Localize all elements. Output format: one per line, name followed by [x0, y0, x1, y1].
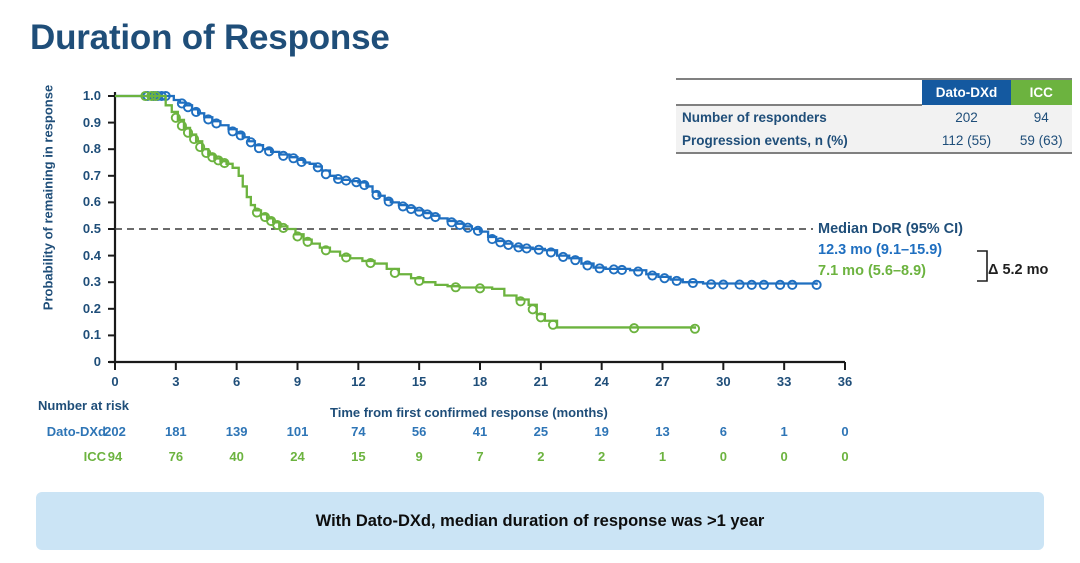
risk-value: 94	[95, 449, 135, 464]
risk-value: 181	[156, 424, 196, 439]
x-tick-label: 3	[156, 374, 196, 389]
delta-value: Δ 5.2 mo	[988, 262, 1048, 278]
number-at-risk-table: Number at risk Dato-DXd20218113910174564…	[0, 398, 880, 478]
y-tick-label: 0.6	[67, 194, 101, 209]
y-tick-label: 0.4	[67, 248, 101, 263]
km-plot-svg	[0, 70, 880, 390]
x-tick-label: 9	[278, 374, 318, 389]
risk-value: 24	[278, 449, 318, 464]
risk-value: 0	[825, 424, 865, 439]
censor-marker	[464, 224, 472, 232]
median-dato-value: 12.3 mo (9.1–15.9)	[818, 240, 963, 261]
risk-value: 2	[521, 449, 561, 464]
y-tick-label: 0.7	[67, 168, 101, 183]
censor-marker	[673, 277, 681, 285]
median-icc-value: 7.1 mo (5.6–8.9)	[818, 261, 963, 282]
censor-marker	[648, 271, 656, 279]
y-tick-label: 0.9	[67, 115, 101, 130]
x-tick-label: 30	[703, 374, 743, 389]
risk-value: 0	[825, 449, 865, 464]
risk-value: 76	[156, 449, 196, 464]
y-tick-label: 0.1	[67, 327, 101, 342]
risk-value: 139	[217, 424, 257, 439]
censor-marker	[559, 253, 567, 261]
slide-root: Duration of Response Dato-DXd ICC Number…	[0, 0, 1080, 563]
censor-marker	[448, 218, 456, 226]
summary-table-col-icc: ICC	[1011, 79, 1072, 105]
risk-value: 40	[217, 449, 257, 464]
censor-marker	[456, 221, 464, 229]
censor-marker	[423, 210, 431, 218]
risk-value: 13	[643, 424, 683, 439]
risk-value: 0	[764, 449, 804, 464]
y-tick-label: 0.2	[67, 301, 101, 316]
x-tick-label: 21	[521, 374, 561, 389]
progression-dato-value: 112 (55)	[922, 129, 1010, 153]
takeaway-banner: With Dato-DXd, median duration of respon…	[36, 492, 1044, 550]
y-tick-label: 0.8	[67, 141, 101, 156]
km-chart: Probability of remaining in response 00.…	[0, 70, 880, 390]
risk-row-label-dato-dxd: Dato-DXd	[16, 424, 106, 439]
risk-value: 74	[338, 424, 378, 439]
page-title: Duration of Response	[30, 18, 390, 58]
risk-row-label-icc: ICC	[16, 449, 106, 464]
risk-value: 7	[460, 449, 500, 464]
censor-marker	[760, 281, 768, 289]
x-tick-label: 18	[460, 374, 500, 389]
x-tick-label: 0	[95, 374, 135, 389]
y-tick-label: 1.0	[67, 88, 101, 103]
censor-marker	[431, 213, 439, 221]
risk-value: 202	[95, 424, 135, 439]
median-dor-header: Median DoR (95% CI)	[818, 219, 963, 240]
risk-value: 1	[764, 424, 804, 439]
risk-value: 1	[643, 449, 683, 464]
x-tick-label: 36	[825, 374, 865, 389]
censor-marker	[504, 241, 512, 249]
x-tick-label: 24	[582, 374, 622, 389]
censor-marker	[748, 281, 756, 289]
censor-marker	[788, 281, 796, 289]
censor-marker	[660, 274, 668, 282]
progression-icc-value: 59 (63)	[1011, 129, 1072, 153]
risk-value: 56	[399, 424, 439, 439]
risk-value: 9	[399, 449, 439, 464]
y-tick-label: 0	[67, 354, 101, 369]
censor-marker	[407, 205, 415, 213]
risk-value: 25	[521, 424, 561, 439]
risk-value: 6	[703, 424, 743, 439]
x-tick-label: 15	[399, 374, 439, 389]
censor-marker	[279, 152, 287, 160]
risk-value: 2	[582, 449, 622, 464]
censor-marker	[634, 267, 642, 275]
x-tick-label: 33	[764, 374, 804, 389]
summary-table-col-dato: Dato-DXd	[922, 79, 1010, 105]
risk-value: 15	[338, 449, 378, 464]
censor-marker	[529, 305, 537, 313]
censor-marker	[415, 208, 423, 216]
risk-value: 19	[582, 424, 622, 439]
x-tick-label: 12	[338, 374, 378, 389]
censor-marker	[399, 202, 407, 210]
responders-dato-value: 202	[922, 105, 1010, 129]
number-at-risk-title: Number at risk	[38, 398, 129, 413]
censor-marker	[496, 238, 504, 246]
y-tick-label: 0.5	[67, 221, 101, 236]
responders-icc-value: 94	[1011, 105, 1072, 129]
takeaway-banner-text: With Dato-DXd, median duration of respon…	[316, 512, 765, 531]
risk-value: 101	[278, 424, 318, 439]
y-tick-label: 0.3	[67, 274, 101, 289]
y-axis-title: Probability of remaining in response	[41, 73, 56, 323]
risk-value: 41	[460, 424, 500, 439]
km-curve-icc	[115, 96, 695, 329]
x-tick-label: 27	[643, 374, 683, 389]
x-tick-label: 6	[217, 374, 257, 389]
censor-marker	[776, 281, 784, 289]
median-annotation-block: Median DoR (95% CI) 12.3 mo (9.1–15.9) 7…	[818, 219, 963, 282]
risk-value: 0	[703, 449, 743, 464]
